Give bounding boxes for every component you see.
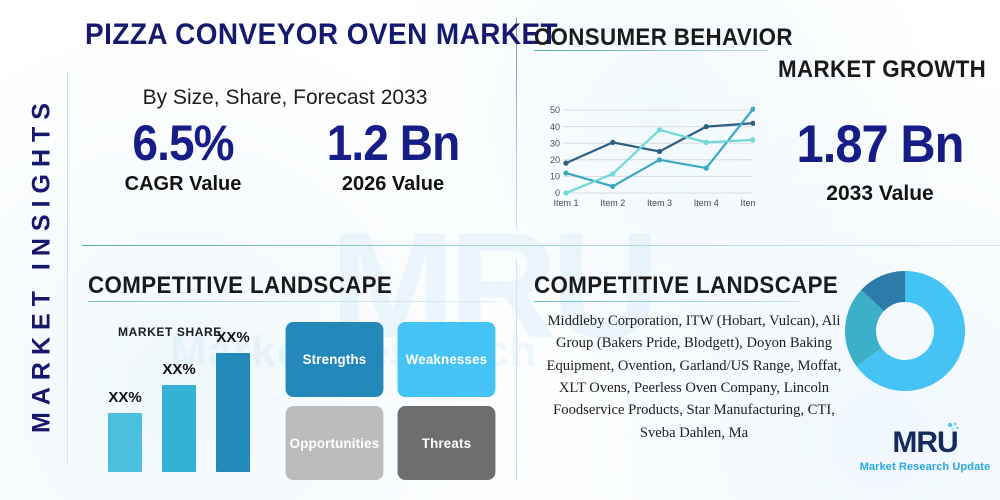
svg-text:10: 10 — [550, 172, 560, 182]
section-title-consumer-behavior: CONSUMER BEHAVIOR — [534, 24, 793, 52]
svg-text:0: 0 — [555, 188, 560, 198]
market-share-bar — [216, 353, 250, 472]
kpi-2026-value: 1.2 Bn — [296, 118, 489, 169]
water-drop-icon — [945, 421, 961, 437]
svg-text:20: 20 — [550, 155, 560, 165]
svg-text:Item 2: Item 2 — [600, 198, 625, 208]
section-rule-consumer-behavior — [534, 50, 769, 51]
svg-text:Item 1: Item 1 — [553, 198, 578, 208]
section-title-competitive-landscape-right: COMPETITIVE LANDSCAPE — [534, 272, 838, 300]
infographic-canvas: MRU Market Research MARKET INSIGHTS PIZZ… — [0, 0, 1000, 500]
kpi-cagr: 6.5% CAGR Value — [78, 118, 288, 196]
market-share-donut-chart — [842, 268, 968, 394]
svg-text:Item 3: Item 3 — [647, 198, 672, 208]
logo: MRU Market Research Update — [855, 428, 995, 473]
swot-cell-opportunities[interactable]: Opportunities — [286, 406, 384, 481]
market-share-bar-label: XX% — [149, 361, 209, 378]
divider-middle-bottom-vertical — [516, 258, 517, 480]
svg-text:30: 30 — [550, 138, 560, 148]
svg-text:50: 50 — [550, 105, 560, 115]
logo-subtitle: Market Research Update — [855, 461, 995, 473]
page-subtitle: By Size, Share, Forecast 2033 — [70, 86, 500, 110]
swot-cell-threats[interactable]: Threats — [398, 406, 496, 481]
kpi-2026-label: 2026 Value — [288, 173, 498, 196]
section-title-competitive-landscape-left: COMPETITIVE LANDSCAPE — [88, 272, 392, 300]
market-growth-value: 1.87 Bn — [770, 118, 991, 171]
market-share-bar-label: XX% — [203, 329, 263, 346]
svg-text:40: 40 — [550, 122, 560, 132]
side-label: MARKET INSIGHTS — [28, 55, 57, 475]
market-share-bar-chart: XX%XX%XX% — [100, 320, 275, 480]
market-growth-label: 2033 Value — [760, 182, 1000, 206]
logo-mark-text: MR — [892, 426, 937, 459]
kpi-2026: 1.2 Bn 2026 Value — [288, 118, 498, 196]
swot-cell-weaknesses[interactable]: Weaknesses — [398, 322, 496, 397]
divider-left-vertical — [67, 72, 68, 465]
companies-list: Middleby Corporation, ITW (Hobart, Vulca… — [534, 310, 854, 444]
kpi-cagr-label: CAGR Value — [78, 173, 288, 196]
kpi-cagr-value: 6.5% — [86, 118, 279, 169]
swot-grid: StrengthsWeaknessesOpportunitiesThreats — [283, 322, 498, 480]
market-share-bar-label: XX% — [95, 389, 155, 406]
market-share-bar — [108, 413, 142, 472]
consumer-behavior-line-chart: 01020304050 Item 1Item 2Item 3Item 4Item… — [540, 100, 755, 220]
section-title-market-growth: MARKET GROWTH — [778, 56, 986, 84]
page-title: PIZZA CONVEYOR OVEN MARKET — [85, 18, 485, 52]
svg-text:Item 5: Item 5 — [740, 198, 755, 208]
market-share-bar — [162, 385, 196, 472]
swot-cell-strengths[interactable]: Strengths — [286, 322, 384, 397]
kpi-group: 6.5% CAGR Value 1.2 Bn 2026 Value — [78, 118, 498, 196]
section-rule-competitive-landscape-left — [88, 301, 498, 302]
divider-horizontal — [82, 245, 1000, 246]
section-rule-competitive-landscape-right — [534, 301, 799, 302]
logo-mark: MRU — [892, 428, 957, 458]
svg-text:Item 4: Item 4 — [694, 198, 719, 208]
